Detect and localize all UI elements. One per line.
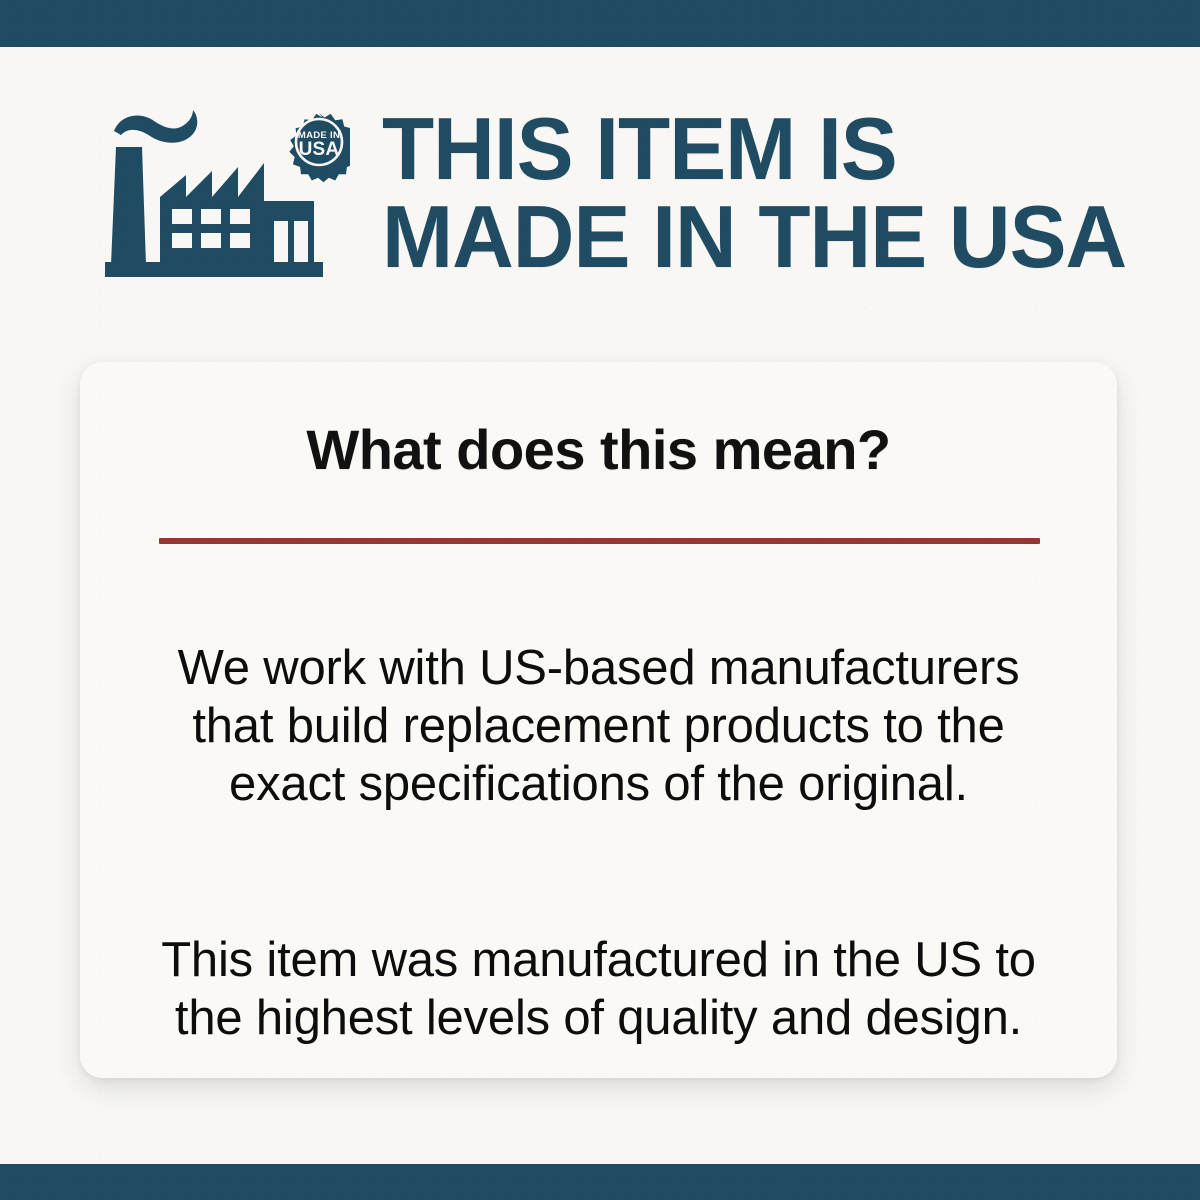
page-title: THIS ITEM IS MADE IN THE USA [382, 105, 1148, 281]
page-root: MADE IN USA THIS ITEM IS MADE IN THE USA… [0, 0, 1200, 1200]
card-title: What does this mean? [80, 420, 1117, 480]
headline-line-2: MADE IN THE USA [382, 193, 1148, 281]
top-accent-bar [0, 0, 1200, 47]
bottom-accent-bar [0, 1164, 1200, 1200]
svg-text:USA: USA [299, 139, 340, 160]
card-body: We work with US-based manufacturers that… [142, 590, 1055, 1096]
info-card: What does this mean? We work with US-bas… [80, 362, 1117, 1078]
factory-icon: MADE IN USA [100, 105, 350, 285]
card-divider [159, 538, 1040, 544]
header-banner: MADE IN USA THIS ITEM IS MADE IN THE USA [0, 47, 1200, 347]
card-paragraph-1: We work with US-based manufacturers that… [142, 639, 1055, 813]
card-paragraph-2: This item was manufactured in the US to … [142, 931, 1055, 1047]
headline-line-1: THIS ITEM IS [382, 105, 1148, 193]
